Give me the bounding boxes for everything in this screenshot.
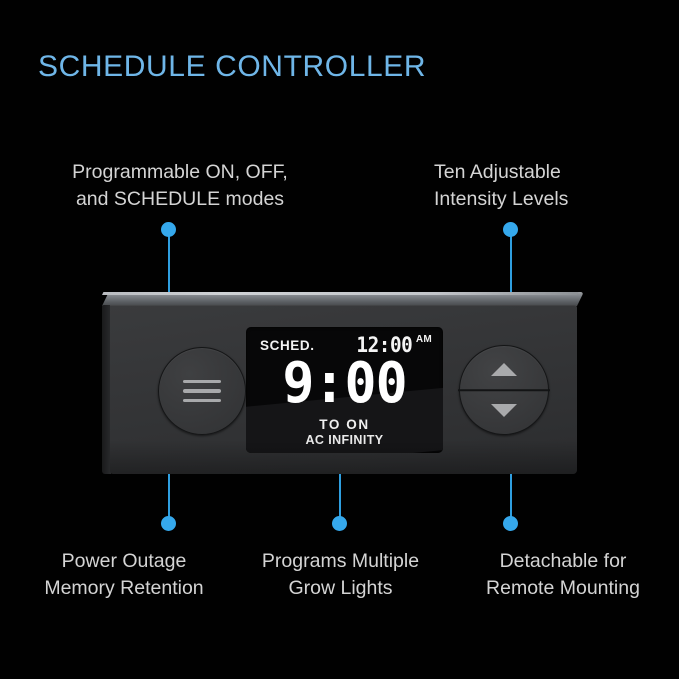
device-front-face: SCHED. 12:00 AM 9:00 TO ON AC INFINITY [110,305,577,474]
rocker-divider [458,389,550,391]
chevron-down-icon[interactable] [491,404,517,417]
page-title: SCHEDULE CONTROLLER [38,50,426,84]
leader-line-bottom-center [339,470,341,522]
menu-button[interactable] [158,347,246,435]
lcd-main-time: 9:00 [251,356,438,412]
leader-line-top-left [168,230,170,292]
lcd-clock-meridiem: AM [416,334,432,345]
leader-dot-bottom-left [161,516,176,531]
leader-line-bottom-left [168,470,170,522]
leader-dot-top-right [503,222,518,237]
leader-dot-bottom-center [332,516,347,531]
callout-intensity-levels: Ten Adjustable Intensity Levels [434,159,674,213]
lcd-content: SCHED. 12:00 AM 9:00 TO ON AC INFINITY [246,327,443,453]
lcd-display: SCHED. 12:00 AM 9:00 TO ON AC INFINITY [246,327,443,453]
lcd-status-text: TO ON [246,417,443,432]
device-top-highlight [102,292,578,295]
intensity-rocker-button[interactable] [459,345,549,435]
menu-icon-bar-2 [183,389,221,393]
leader-line-bottom-right [510,470,512,522]
callout-power-outage-memory: Power Outage Memory Retention [10,548,238,602]
leader-dot-top-left [161,222,176,237]
brand-logo-text: AC INFINITY [246,433,443,447]
leader-line-top-right [510,230,512,292]
callout-detachable-mounting: Detachable for Remote Mounting [452,548,674,602]
menu-icon-bar-1 [183,380,221,384]
menu-icon-bar-3 [183,399,221,403]
leader-dot-bottom-right [503,516,518,531]
callout-programmable-modes: Programmable ON, OFF, and SCHEDULE modes [35,159,325,213]
schedule-controller-device: SCHED. 12:00 AM 9:00 TO ON AC INFINITY [102,292,577,474]
callout-programs-multiple-lights: Programs Multiple Grow Lights [238,548,443,602]
product-feature-graphic: SCHEDULE CONTROLLER Programmable ON, OFF… [0,0,679,679]
chevron-up-icon[interactable] [491,363,517,376]
